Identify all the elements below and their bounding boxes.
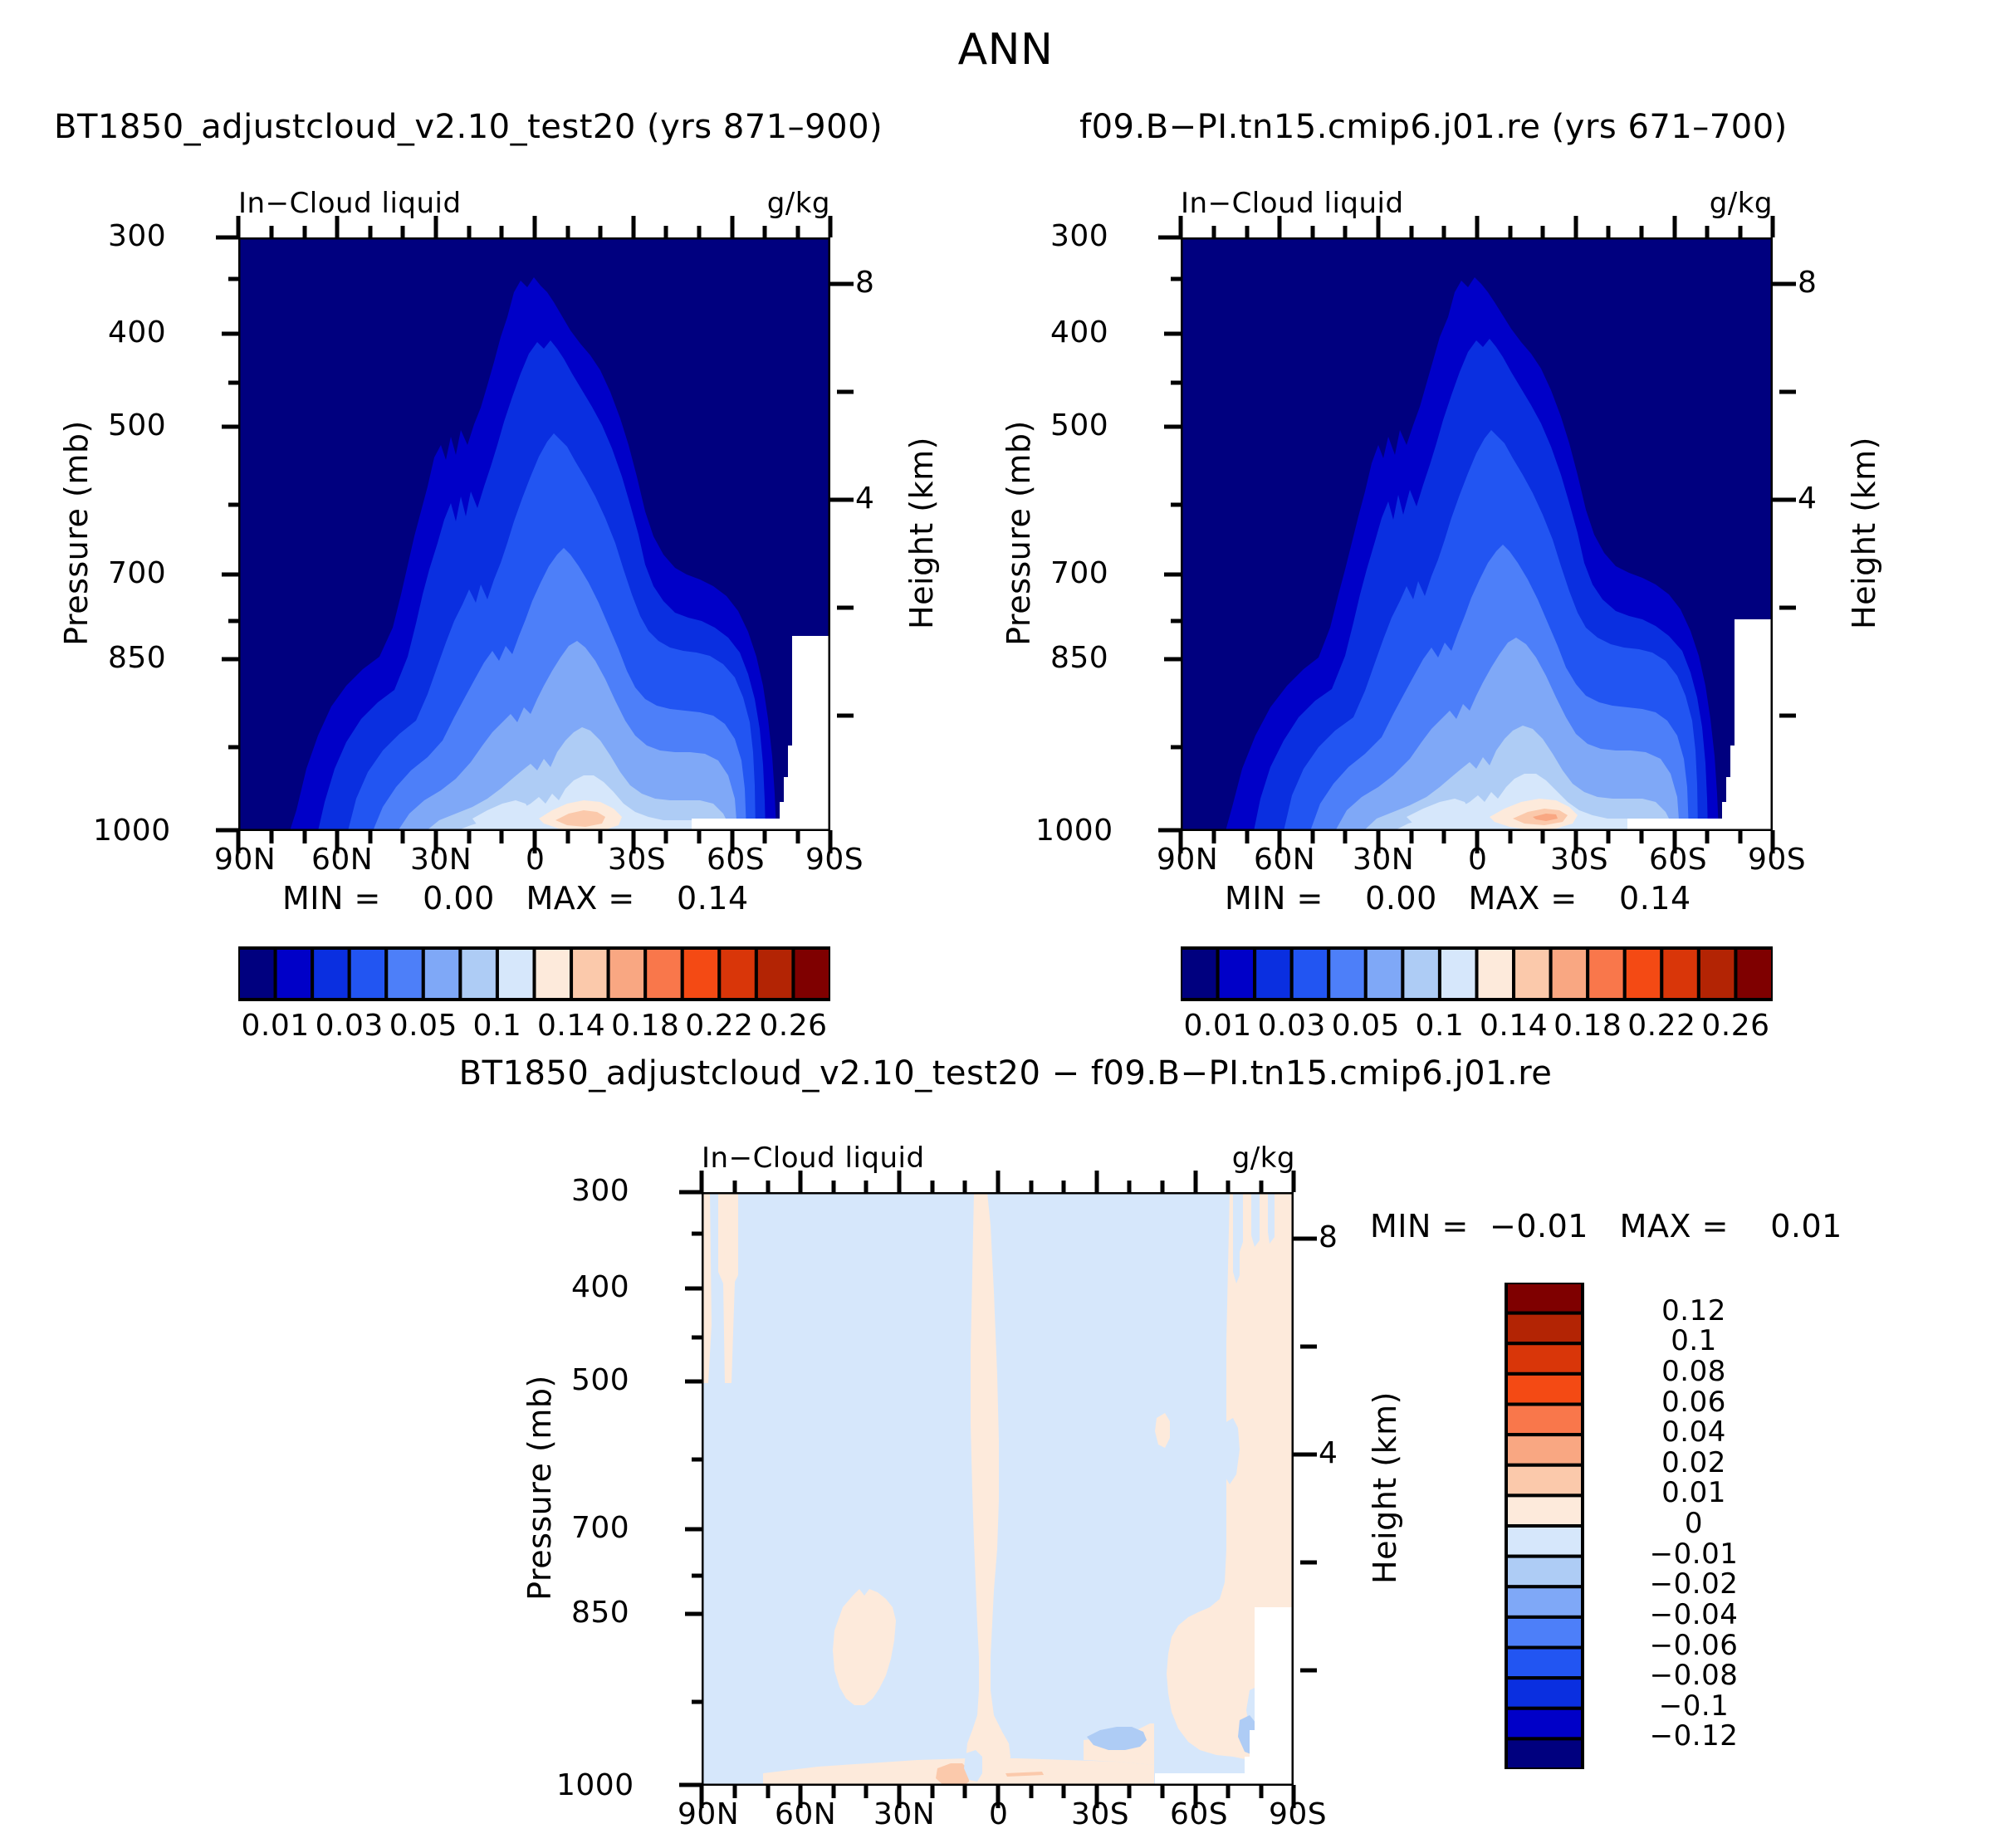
left-colorbar-swatches xyxy=(238,946,830,1001)
colorbar-tick-label: 0.22 xyxy=(1622,1009,1701,1043)
colorbar-swatch xyxy=(1551,948,1588,1000)
colorbar-tick-label: 0.05 xyxy=(384,1009,463,1043)
colorbar-tick-label: 0.22 xyxy=(679,1009,759,1043)
legend-tick-label: 0.12 xyxy=(1602,1294,1785,1327)
colorbar-swatch xyxy=(1328,948,1366,1000)
page-title: ANN xyxy=(0,25,2011,75)
legend-tick-label: 0.02 xyxy=(1602,1446,1785,1479)
colorbar-swatch xyxy=(683,948,720,1000)
colorbar-swatch xyxy=(719,948,756,1000)
legend-swatch xyxy=(1506,1405,1583,1435)
diff-legend-swatches xyxy=(1505,1283,1588,1769)
colorbar-swatch xyxy=(1440,948,1477,1000)
diff-panel-title: BT1850_adjustcloud_v2.10_test20 − f09.B−… xyxy=(0,1054,2011,1093)
colorbar-tick-label: 0.01 xyxy=(1178,1009,1258,1043)
diff-legend xyxy=(1505,1283,1588,1769)
legend-swatch xyxy=(1506,1283,1583,1313)
legend-swatch xyxy=(1506,1738,1583,1769)
legend-swatch xyxy=(1506,1435,1583,1465)
legend-swatch xyxy=(1506,1557,1583,1587)
legend-tick-label: −0.1 xyxy=(1602,1689,1785,1723)
legend-tick-label: −0.12 xyxy=(1602,1719,1785,1753)
legend-tick-label: 0.04 xyxy=(1602,1415,1785,1449)
legend-swatch xyxy=(1506,1648,1583,1679)
colorbar-tick-label: 0.14 xyxy=(1474,1009,1554,1043)
legend-swatch xyxy=(1506,1374,1583,1405)
right-colorbar-labels: 0.010.030.050.10.140.180.220.26 xyxy=(1150,1009,1806,1050)
legend-swatch xyxy=(1506,1343,1583,1374)
colorbar-swatch xyxy=(1699,948,1736,1000)
colorbar-swatch xyxy=(609,948,646,1000)
right-y-axis-label: Pressure (mb) xyxy=(1001,400,1037,666)
colorbar-tick-label: 0.18 xyxy=(1548,1009,1627,1043)
legend-swatch xyxy=(1506,1678,1583,1709)
colorbar-swatch xyxy=(350,948,387,1000)
colorbar-swatch xyxy=(1625,948,1662,1000)
right-panel-minmax: MIN = 0.00 MAX = 0.14 xyxy=(1225,880,1691,917)
left-colorbar xyxy=(238,946,830,1001)
left-panel-ticks xyxy=(149,146,980,893)
right-panel-ticks xyxy=(1092,146,1922,893)
colorbar-swatch xyxy=(386,948,423,1000)
legend-tick-label: −0.06 xyxy=(1602,1629,1785,1662)
colorbar-swatch xyxy=(645,948,683,1000)
colorbar-swatch xyxy=(1735,948,1773,1000)
colorbar-tick-label: 0.05 xyxy=(1326,1009,1406,1043)
legend-swatch xyxy=(1506,1526,1583,1557)
colorbar-swatch xyxy=(571,948,609,1000)
colorbar-swatch xyxy=(497,948,535,1000)
legend-tick-label: 0.1 xyxy=(1602,1324,1785,1357)
colorbar-swatch xyxy=(793,948,830,1000)
colorbar-swatch xyxy=(535,948,572,1000)
colorbar-swatch xyxy=(1402,948,1440,1000)
colorbar-tick-label: 0.03 xyxy=(310,1009,389,1043)
legend-tick-label: −0.01 xyxy=(1602,1538,1785,1571)
colorbar-tick-label: 0.18 xyxy=(605,1009,685,1043)
diff-legend-labels: 0.120.10.080.060.040.020.010−0.01−0.02−0… xyxy=(1602,1283,1852,1781)
right-colorbar-swatches xyxy=(1181,946,1773,1001)
legend-tick-label: 0.08 xyxy=(1602,1355,1785,1388)
legend-tick-label: 0 xyxy=(1602,1507,1785,1540)
right-colorbar xyxy=(1181,946,1773,1001)
left-colorbar-labels: 0.010.030.050.10.140.180.220.26 xyxy=(208,1009,864,1050)
legend-tick-label: 0.01 xyxy=(1602,1476,1785,1509)
colorbar-tick-label: 0.1 xyxy=(457,1009,537,1043)
colorbar-swatch xyxy=(1514,948,1551,1000)
colorbar-swatch xyxy=(1218,948,1255,1000)
diff-y-axis-label: Pressure (mb) xyxy=(521,1355,558,1621)
legend-tick-label: −0.08 xyxy=(1602,1659,1785,1692)
legend-swatch xyxy=(1506,1617,1583,1648)
colorbar-swatch xyxy=(238,948,276,1000)
colorbar-swatch xyxy=(276,948,313,1000)
legend-swatch xyxy=(1506,1709,1583,1739)
legend-swatch xyxy=(1506,1465,1583,1496)
colorbar-tick-label: 0.03 xyxy=(1252,1009,1332,1043)
legend-tick-label: −0.02 xyxy=(1602,1567,1785,1601)
colorbar-swatch xyxy=(1366,948,1403,1000)
colorbar-tick-label: 0.26 xyxy=(753,1009,833,1043)
legend-tick-label: 0.06 xyxy=(1602,1386,1785,1419)
colorbar-tick-label: 0.01 xyxy=(236,1009,316,1043)
left-y-axis-label: Pressure (mb) xyxy=(58,400,95,666)
legend-swatch xyxy=(1506,1586,1583,1617)
colorbar-swatch xyxy=(756,948,794,1000)
legend-swatch xyxy=(1506,1495,1583,1526)
colorbar-swatch xyxy=(1181,948,1218,1000)
colorbar-swatch xyxy=(1255,948,1292,1000)
left-panel-title: BT1850_adjustcloud_v2.10_test20 (yrs 871… xyxy=(54,108,883,146)
colorbar-swatch xyxy=(1661,948,1699,1000)
colorbar-tick-label: 0.1 xyxy=(1400,1009,1480,1043)
colorbar-swatch xyxy=(1477,948,1514,1000)
colorbar-swatch xyxy=(1292,948,1329,1000)
diff-panel-ticks xyxy=(613,1101,1443,1848)
left-panel-minmax: MIN = 0.00 MAX = 0.14 xyxy=(282,880,749,917)
colorbar-swatch xyxy=(1588,948,1625,1000)
colorbar-swatch xyxy=(423,948,461,1000)
right-panel-title: f09.B−PI.tn15.cmip6.j01.re (yrs 671–700) xyxy=(1079,108,1788,146)
colorbar-tick-label: 0.14 xyxy=(531,1009,611,1043)
legend-swatch xyxy=(1506,1313,1583,1344)
colorbar-swatch xyxy=(460,948,497,1000)
diff-panel-minmax: MIN = −0.01 MAX = 0.01 xyxy=(1370,1208,1842,1244)
colorbar-swatch xyxy=(312,948,350,1000)
legend-tick-label: −0.04 xyxy=(1602,1598,1785,1631)
colorbar-tick-label: 0.26 xyxy=(1695,1009,1775,1043)
